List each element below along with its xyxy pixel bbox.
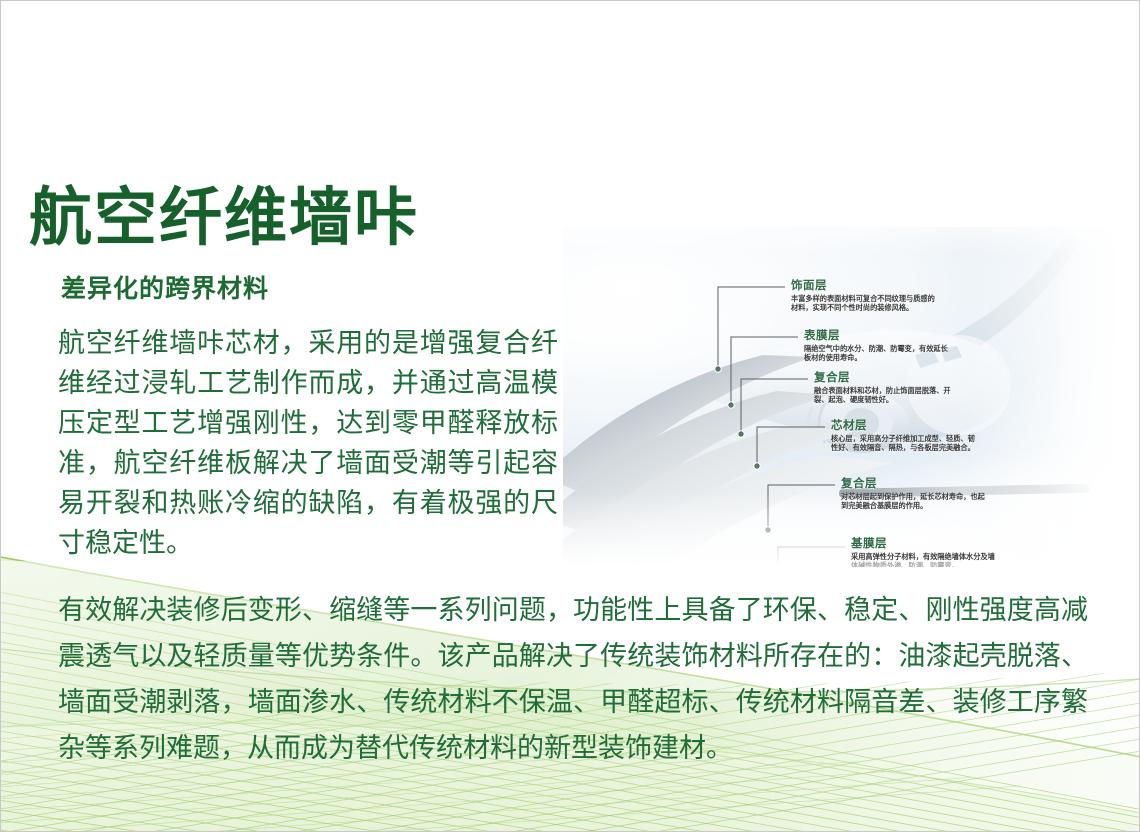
callout-title: 表膜层	[804, 329, 954, 343]
body-paragraph: 有效解决装修后变形、缩缝等一系列问题，功能性上具备了环保、稳定、刚性强度高减震透…	[58, 587, 1088, 771]
callout-desc: 对芯材层起到保护作用，延长芯材寿命，也起到完美融合基膜层的作用。	[841, 493, 991, 510]
lead-paragraph: 航空纤维墙咔芯材，采用的是增强复合纤维经过浸轧工艺制作而成，并通过高温模压定型工…	[58, 323, 558, 563]
page-subtitle: 差异化的跨界材料	[61, 277, 269, 302]
callout-xincai-ceng: 芯材层 核心层，采用高分子纤维加工成型、轻质、韧性好、有效隔音、隔热，与各板层完…	[831, 419, 981, 452]
callout-desc: 核心层，采用高分子纤维加工成型、轻质、韧性好、有效隔音、隔热，与各板层完美融合。	[831, 435, 981, 452]
callout-fuhe-ceng-lower: 复合层 对芯材层起到保护作用，延长芯材寿命，也起到完美融合基膜层的作用。	[841, 477, 991, 510]
callout-title: 基膜层	[851, 537, 1001, 551]
callout-title: 复合层	[841, 477, 991, 491]
callout-biaomo-ceng: 表膜层 隔绝空气中的水分、防潮、防霉变，有效延长板材的使用寿命。	[804, 329, 954, 362]
callout-desc: 隔绝空气中的水分、防潮、防霉变，有效延长板材的使用寿命。	[804, 345, 954, 362]
callout-desc: 丰富多样的表面材料可复合不同纹理与质感的材料，实现不同个性时尚的装修风格。	[791, 295, 941, 312]
poster-page: 饰面层 丰富多样的表面材料可复合不同纹理与质感的材料，实现不同个性时尚的装修风格…	[0, 0, 1140, 832]
callout-jimo-ceng: 基膜层 采用高弹性分子材料，有效隔绝墙体水分及墙体碱性物质外渗、防潮、防霉变。	[851, 537, 1001, 567]
callout-title: 复合层	[814, 371, 964, 385]
product-structure-illustration: 饰面层 丰富多样的表面材料可复合不同纹理与质感的材料，实现不同个性时尚的装修风格…	[563, 227, 1123, 567]
callout-desc: 采用高弹性分子材料，有效隔绝墙体水分及墙体碱性物质外渗、防潮、防霉变。	[851, 553, 1001, 567]
callout-title: 饰面层	[791, 279, 941, 293]
callout-shimian-ceng: 饰面层 丰富多样的表面材料可复合不同纹理与质感的材料，实现不同个性时尚的装修风格…	[791, 279, 941, 312]
page-title: 航空纤维墙咔	[29, 187, 419, 250]
callout-desc: 融合表面材料和芯材，防止饰面层脱落、开裂、起泡、硬度韧性好。	[814, 387, 964, 404]
callout-title: 芯材层	[831, 419, 981, 433]
callout-fuhe-ceng-upper: 复合层 融合表面材料和芯材，防止饰面层脱落、开裂、起泡、硬度韧性好。	[814, 371, 964, 404]
